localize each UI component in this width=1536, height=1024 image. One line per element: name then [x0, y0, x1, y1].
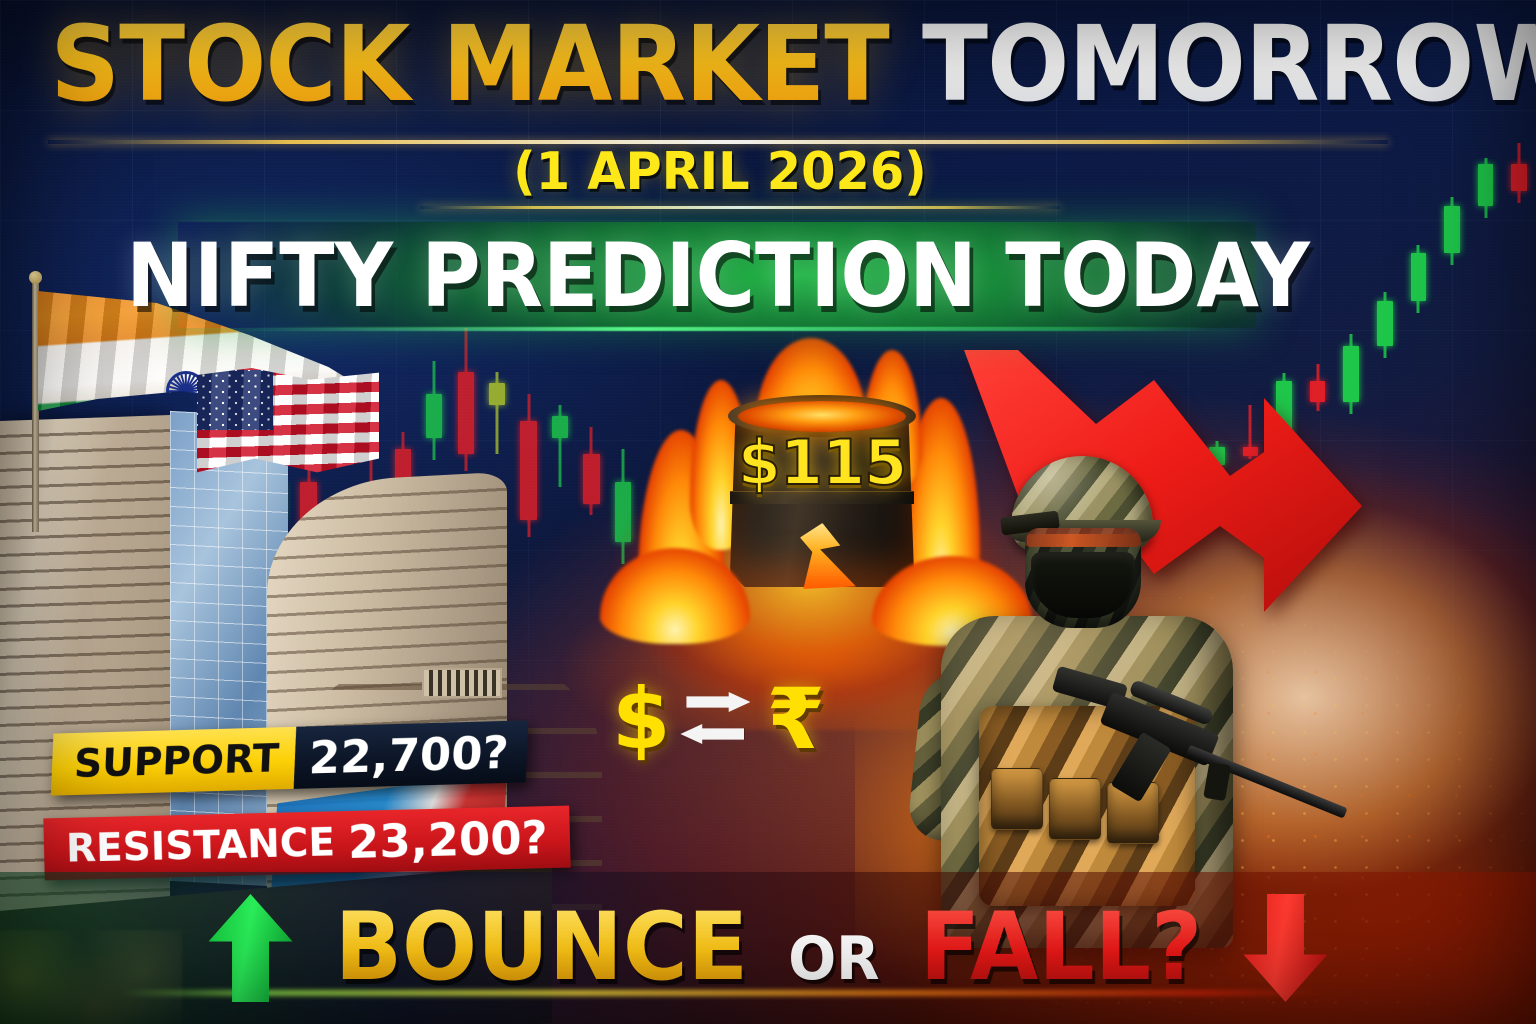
- cta-word-bounce: BOUNCE: [334, 893, 747, 1002]
- dollar-symbol-icon: $: [612, 682, 670, 758]
- thumbnail-canvas: BOMBAY STOCK EXCHANGE $115: [0, 0, 1536, 1024]
- arrow-down-icon: [1243, 894, 1327, 1002]
- flag-pole: [32, 282, 39, 532]
- status-badge-resistance: RESISTANCE 23,200?: [43, 806, 570, 881]
- support-label: SUPPORT: [51, 727, 296, 796]
- cta-row: BOUNCE OR FALL?: [0, 884, 1536, 1012]
- cta-word-fall: FALL?: [919, 893, 1201, 1002]
- headline-line-1: STOCK MARKET TOMORROW: [50, 12, 1389, 116]
- support-value: 22,700?: [294, 720, 528, 789]
- headline-divider-bottom: [420, 206, 1060, 209]
- status-badge-support: SUPPORT 22,700?: [51, 720, 527, 795]
- currency-swap: $ ₹: [612, 672, 862, 768]
- exchange-arrows-icon: [676, 684, 760, 756]
- building-vent: [422, 668, 502, 698]
- resistance-value: 23,200?: [347, 811, 548, 869]
- rupee-symbol-icon: ₹: [766, 682, 824, 758]
- headline-stock-market: STOCK MARKET: [50, 3, 889, 125]
- headline-date: (1 APRIL 2026): [36, 146, 1404, 198]
- headline-line-3: NIFTY PREDICTION TODAY: [57, 228, 1378, 323]
- arrow-up-icon: [209, 894, 293, 1002]
- cta-conjunction: OR: [778, 924, 888, 994]
- resistance-label: RESISTANCE: [66, 820, 336, 872]
- cta-text: BOUNCE OR FALL?: [334, 901, 1202, 995]
- headline-tomorrow: TOMORROW: [922, 3, 1536, 125]
